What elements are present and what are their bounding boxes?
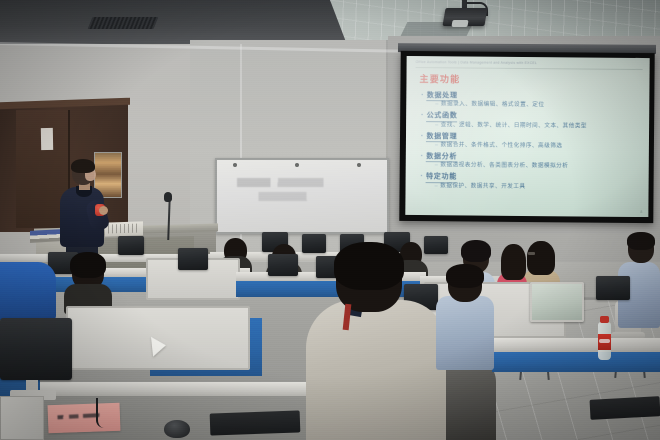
ceiling-vent-icon — [88, 17, 159, 29]
slide-section: ▪ 数据管理 –数据合并、条件格式、个性化排序、高级筛选 — [421, 132, 642, 152]
whiteboard-clip — [295, 163, 299, 167]
whiteboard-clip — [357, 163, 361, 167]
student-torso — [0, 262, 56, 320]
monitor — [118, 236, 144, 255]
wall-paper-note — [41, 128, 53, 150]
desk-panel-blue — [492, 352, 660, 372]
slide-section-detail: 数据透视表分析、各类图表分析、数据模拟分析 — [440, 162, 568, 169]
slide-section-detail-row: –数据录入、数据编辑、格式设置、定位 — [435, 102, 642, 112]
bottle-label — [598, 334, 611, 350]
slide-title: 主要功能 — [419, 72, 642, 87]
slide-section-detail-row: –数据合并、条件格式、个性化排序、高级筛选 — [435, 142, 642, 152]
glasses-icon — [528, 252, 535, 255]
student-torso — [436, 296, 494, 370]
monitor — [424, 236, 448, 254]
slide-section-heading: 公式函数 — [427, 111, 458, 122]
slide-header-text: Office Automation Tools | Data Managemen… — [416, 60, 643, 66]
monitor — [0, 318, 72, 380]
slide-section-heading: 数据管理 — [426, 132, 457, 143]
keyboard — [210, 410, 301, 435]
monitor — [596, 276, 630, 300]
slide-section-detail-row: –数据透视表分析、各类图表分析、数据模拟分析 — [435, 162, 642, 172]
student-hair — [70, 252, 106, 278]
slide-section-detail: 数据保护、数据共享、开发工具 — [440, 183, 525, 190]
bullet-icon: ▪ — [421, 91, 424, 100]
cpu-tower — [0, 396, 44, 440]
folded-paper-icon — [151, 335, 167, 356]
slide-body: ▪ 数据处理 –数据录入、数据编辑、格式设置、定位 ▪ 公式函数 –查找、逻辑、… — [421, 91, 643, 192]
bottle-cap — [600, 316, 609, 323]
dash-icon: – — [435, 162, 439, 168]
monitor — [302, 234, 326, 253]
bullet-icon: ▪ — [421, 172, 424, 181]
slide-section-detail: 查找、逻辑、数学、统计、日期时间、文本、其他类型 — [441, 122, 587, 129]
dash-icon: – — [435, 183, 439, 189]
slide-section-detail: 数据合并、条件格式、个性化排序、高级筛选 — [441, 142, 563, 149]
student-torso — [306, 300, 446, 440]
whiteboard-clip — [233, 163, 237, 167]
student-long-hair — [527, 241, 555, 275]
slide-section: ▪ 数据处理 –数据录入、数据编辑、格式设置、定位 — [421, 91, 642, 111]
dash-icon: – — [435, 102, 439, 108]
presenter-hair — [71, 159, 95, 173]
desk-cable — [96, 398, 138, 428]
whiteboard-writing — [237, 176, 357, 204]
slide-divider — [416, 67, 643, 70]
projection-screen: Office Automation Tools | Data Managemen… — [405, 56, 649, 217]
dash-icon: – — [435, 122, 439, 128]
slide-section-detail-row: –数据保护、数据共享、开发工具 — [435, 183, 642, 193]
projector-lens-icon — [451, 20, 468, 27]
bullet-icon: ▪ — [421, 152, 424, 161]
monitor — [268, 254, 298, 276]
monitor — [178, 248, 208, 270]
monitor-lit — [530, 282, 584, 322]
slide-section-detail: 数据录入、数据编辑、格式设置、定位 — [441, 102, 545, 109]
presentation-slide: Office Automation Tools | Data Managemen… — [405, 56, 649, 217]
slide-section: ▪ 公式函数 –查找、逻辑、数学、统计、日期时间、文本、其他类型 — [421, 111, 642, 131]
keyboard — [590, 396, 660, 420]
slide-section-heading: 数据处理 — [427, 91, 458, 102]
desk-surface — [492, 338, 660, 352]
student-long-hair — [501, 244, 526, 280]
presenter-hand — [99, 206, 108, 215]
slide-section-detail-row: –查找、逻辑、数学、统计、日期时间、文本、其他类型 — [435, 122, 642, 132]
dash-icon: – — [435, 142, 439, 148]
slide-page-number: 8 — [640, 210, 642, 214]
mouse — [164, 420, 190, 438]
slide-section: ▪ 特定功能 –数据保护、数据共享、开发工具 — [421, 172, 642, 192]
classroom-scene: Office Automation Tools | Data Managemen… — [0, 0, 660, 440]
slide-section-heading: 特定功能 — [426, 172, 457, 183]
student-hair — [334, 242, 404, 290]
bullet-icon: ▪ — [421, 132, 424, 141]
bullet-icon: ▪ — [421, 111, 424, 120]
student-hair — [627, 232, 655, 250]
student-hair — [446, 264, 484, 288]
student-hair — [461, 240, 491, 262]
slide-section: ▪ 数据分析 –数据透视表分析、各类图表分析、数据模拟分析 — [421, 152, 642, 172]
microphone-icon — [164, 192, 172, 202]
slide-section-heading: 数据分析 — [426, 152, 457, 163]
